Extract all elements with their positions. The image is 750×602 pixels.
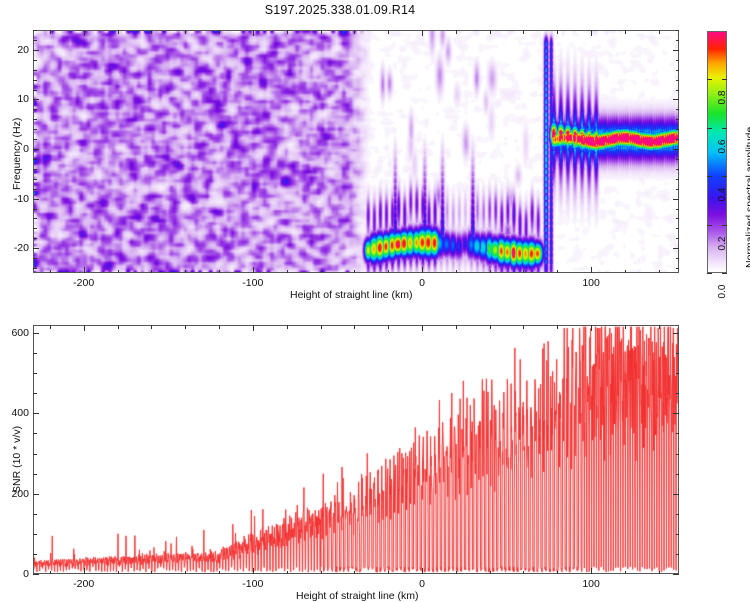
tick-y-minor (676, 534, 680, 535)
tick-x-minor (185, 30, 186, 34)
spectrogram-plot-area (34, 31, 678, 272)
tick-x-minor (659, 571, 660, 575)
tick-x-major (84, 325, 85, 331)
tick-y-minor (676, 40, 680, 41)
tick-x-minor (151, 270, 152, 274)
tick-y-minor (676, 209, 680, 210)
axis-label-y: 400 (1, 407, 29, 419)
tick-x-major (253, 568, 254, 574)
tick-x-minor (50, 270, 51, 274)
tick-x-minor (219, 325, 220, 329)
tick-y-major (673, 99, 679, 100)
tick-x-minor (557, 571, 558, 575)
tick-x-minor (321, 270, 322, 274)
tick-y-minor (676, 129, 680, 130)
tick-x-minor (185, 270, 186, 274)
axis-label-y: 10 (1, 93, 29, 105)
colorbar-tick (707, 225, 712, 226)
tick-y-minor (33, 40, 37, 41)
tick-x-minor (151, 325, 152, 329)
tick-x-minor (490, 325, 491, 329)
tick-x-minor (151, 571, 152, 575)
tick-x-minor (185, 571, 186, 575)
tick-y-minor (33, 70, 37, 71)
tick-x-minor (118, 270, 119, 274)
tick-x-major (591, 30, 592, 36)
tick-x-minor (523, 30, 524, 34)
tick-x-minor (523, 325, 524, 329)
tick-y-minor (33, 119, 37, 120)
tick-x-minor (50, 325, 51, 329)
tick-y-minor (33, 393, 37, 394)
tick-x-major (422, 267, 423, 273)
tick-y-minor (676, 169, 680, 170)
tick-y-minor (33, 139, 37, 140)
colorbar-label: 0.2 (717, 230, 728, 256)
tick-x-major (422, 568, 423, 574)
tick-y-minor (33, 80, 37, 81)
tick-x-minor (388, 270, 389, 274)
tick-x-minor (557, 270, 558, 274)
tick-y-minor (676, 514, 680, 515)
colorbar-tick (707, 176, 712, 177)
tick-y-minor (676, 353, 680, 354)
axis-label-x: -200 (73, 578, 94, 590)
tick-y-minor (676, 228, 680, 229)
axis-label-x: 0 (419, 578, 425, 590)
tick-y-minor (33, 258, 37, 259)
tick-x-minor (490, 270, 491, 274)
tick-y-minor (33, 179, 37, 180)
axis-label-x: -100 (242, 277, 263, 289)
snr-yaxis-title: SNR (10 * v/v) (11, 426, 23, 493)
tick-y-major (673, 494, 679, 495)
tick-y-major (673, 574, 679, 575)
snr-plot-area (34, 326, 678, 573)
tick-y-minor (33, 373, 37, 374)
tick-y-minor (676, 268, 680, 269)
tick-x-major (253, 30, 254, 36)
tick-x-minor (625, 325, 626, 329)
tick-y-minor (33, 169, 37, 170)
tick-y-minor (676, 159, 680, 160)
tick-y-minor (33, 209, 37, 210)
tick-x-minor (354, 270, 355, 274)
axis-label-y: 20 (1, 44, 29, 56)
tick-y-major (33, 248, 39, 249)
figure-root: S197.2025.338.01.09.R14 -200-1000100-20-… (0, 0, 750, 600)
tick-x-minor (388, 30, 389, 34)
tick-y-minor (676, 258, 680, 259)
tick-x-minor (50, 30, 51, 34)
tick-y-minor (33, 534, 37, 535)
colorbar-label: 0.8 (717, 85, 728, 111)
tick-x-minor (287, 325, 288, 329)
tick-x-major (422, 325, 423, 331)
tick-y-minor (33, 159, 37, 160)
colorbar-tick (707, 79, 712, 80)
tick-y-minor (33, 454, 37, 455)
tick-x-minor (151, 30, 152, 34)
tick-y-minor (676, 218, 680, 219)
tick-x-minor (456, 270, 457, 274)
colorbar-label: 0.6 (717, 133, 728, 159)
tick-x-minor (118, 30, 119, 34)
colorbar-title: Normalized spectral amplitude (744, 127, 750, 268)
tick-y-minor (33, 238, 37, 239)
tick-x-minor (557, 325, 558, 329)
tick-x-minor (219, 571, 220, 575)
colorbar-tick (722, 128, 727, 129)
axis-label-x: -200 (73, 277, 94, 289)
colorbar-tick (722, 273, 727, 274)
tick-y-major (33, 494, 39, 495)
colorbar-tick (722, 176, 727, 177)
tick-x-minor (625, 571, 626, 575)
tick-x-minor (354, 325, 355, 329)
tick-x-minor (523, 571, 524, 575)
snr-line-trace (34, 326, 678, 573)
colorbar-tick (707, 128, 712, 129)
tick-x-major (84, 267, 85, 273)
tick-y-minor (33, 30, 37, 31)
tick-x-major (84, 568, 85, 574)
axis-label-x: 100 (582, 578, 600, 590)
tick-y-minor (676, 70, 680, 71)
spectrogram-xaxis-title: Height of straight line (km) (290, 289, 413, 301)
tick-y-minor (676, 119, 680, 120)
tick-y-minor (676, 373, 680, 374)
tick-x-minor (490, 571, 491, 575)
tick-x-minor (659, 270, 660, 274)
tick-y-minor (33, 228, 37, 229)
tick-y-minor (33, 514, 37, 515)
tick-y-minor (676, 474, 680, 475)
axis-label-y: 0 (1, 568, 29, 580)
tick-x-minor (50, 571, 51, 575)
tick-y-minor (676, 454, 680, 455)
tick-y-minor (676, 80, 680, 81)
tick-y-major (33, 149, 39, 150)
tick-x-minor (625, 30, 626, 34)
tick-y-major (33, 199, 39, 200)
tick-x-minor (354, 571, 355, 575)
tick-x-minor (185, 325, 186, 329)
tick-x-minor (287, 571, 288, 575)
tick-y-minor (676, 60, 680, 61)
tick-x-minor (659, 30, 660, 34)
tick-x-major (591, 267, 592, 273)
tick-y-minor (33, 474, 37, 475)
tick-x-minor (118, 571, 119, 575)
snr-panel (33, 325, 679, 574)
tick-y-minor (676, 30, 680, 31)
tick-y-major (33, 413, 39, 414)
figure-title: S197.2025.338.01.09.R14 (0, 3, 680, 17)
tick-x-minor (388, 571, 389, 575)
tick-y-minor (676, 139, 680, 140)
spectrogram-panel (33, 30, 679, 273)
tick-x-minor (557, 30, 558, 34)
tick-x-minor (321, 325, 322, 329)
axis-label-y: -10 (1, 193, 29, 205)
tick-y-minor (33, 353, 37, 354)
tick-y-minor (676, 433, 680, 434)
tick-y-major (33, 333, 39, 334)
tick-x-minor (388, 325, 389, 329)
tick-x-major (422, 30, 423, 36)
tick-y-minor (676, 238, 680, 239)
tick-y-major (673, 50, 679, 51)
tick-y-minor (33, 189, 37, 190)
colorbar-label: 0.0 (717, 279, 728, 305)
tick-y-minor (676, 393, 680, 394)
spectrogram-yaxis-title: Frequency (Hz) (11, 118, 23, 190)
tick-y-minor (676, 109, 680, 110)
tick-x-major (84, 30, 85, 36)
tick-y-major (673, 413, 679, 414)
tick-x-minor (287, 30, 288, 34)
tick-x-major (253, 325, 254, 331)
tick-y-major (673, 333, 679, 334)
tick-y-minor (676, 90, 680, 91)
tick-x-minor (523, 270, 524, 274)
tick-y-minor (676, 189, 680, 190)
tick-x-minor (321, 30, 322, 34)
spectrogram-image (34, 31, 678, 272)
colorbar-tick (722, 79, 727, 80)
colorbar-tick (707, 273, 712, 274)
tick-y-minor (33, 109, 37, 110)
tick-y-major (673, 149, 679, 150)
tick-y-minor (676, 554, 680, 555)
tick-x-minor (456, 30, 457, 34)
tick-x-major (253, 267, 254, 273)
tick-x-minor (118, 325, 119, 329)
tick-y-major (33, 99, 39, 100)
tick-y-major (33, 574, 39, 575)
tick-y-minor (33, 90, 37, 91)
axis-label-x: -100 (242, 578, 263, 590)
tick-x-minor (456, 325, 457, 329)
tick-y-major (33, 50, 39, 51)
tick-x-minor (490, 30, 491, 34)
tick-x-major (591, 325, 592, 331)
tick-y-minor (33, 60, 37, 61)
tick-y-major (673, 248, 679, 249)
tick-x-minor (354, 30, 355, 34)
tick-x-minor (659, 325, 660, 329)
tick-x-minor (287, 270, 288, 274)
axis-label-y: -20 (1, 242, 29, 254)
tick-x-minor (219, 270, 220, 274)
axis-label-y: 600 (1, 327, 29, 339)
tick-y-minor (33, 268, 37, 269)
colorbar-tick (722, 225, 727, 226)
axis-label-x: 100 (582, 277, 600, 289)
tick-x-minor (321, 571, 322, 575)
tick-y-major (673, 199, 679, 200)
tick-y-minor (33, 129, 37, 130)
axis-label-x: 0 (419, 277, 425, 289)
tick-x-minor (625, 270, 626, 274)
tick-x-minor (219, 30, 220, 34)
tick-y-minor (676, 179, 680, 180)
tick-y-minor (33, 554, 37, 555)
colorbar-label: 0.4 (717, 182, 728, 208)
tick-y-minor (33, 218, 37, 219)
snr-xaxis-title: Height of straight line (km) (296, 590, 419, 602)
tick-x-minor (456, 571, 457, 575)
tick-y-minor (33, 433, 37, 434)
tick-x-major (591, 568, 592, 574)
